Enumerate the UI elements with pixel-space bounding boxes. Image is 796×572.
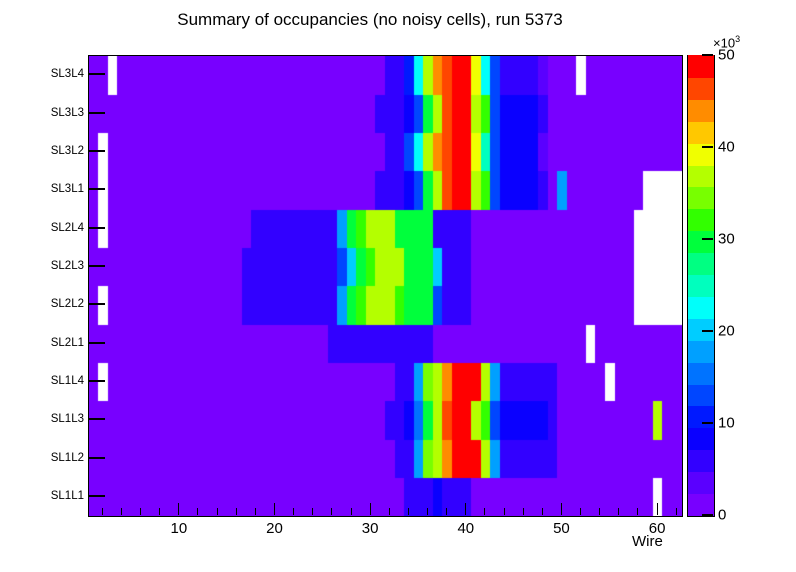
- x-axis-major-tick: [370, 503, 371, 515]
- y-axis-tick: [88, 495, 105, 497]
- x-axis-minor-tick: [580, 508, 581, 515]
- color-scale-bar[interactable]: [687, 55, 715, 517]
- colorbar-tick: [702, 238, 713, 240]
- y-axis-labels: SL1L1SL1L2SL1L3SL1L4SL2L1SL2L2SL2L3SL2L4…: [0, 0, 84, 572]
- x-axis-tick-label: 40: [457, 520, 474, 537]
- x-axis-minor-tick: [504, 508, 505, 515]
- y-axis-tick-label: SL1L1: [51, 490, 84, 502]
- colorbar-band: [688, 472, 714, 495]
- y-axis-tick: [88, 150, 105, 152]
- colorbar-tick: [702, 514, 713, 516]
- y-axis-tick: [88, 418, 105, 420]
- page-title: Summary of occupancies (no noisy cells),…: [0, 10, 740, 30]
- colorbar-band: [688, 99, 714, 122]
- colorbar-band: [688, 274, 714, 297]
- y-axis-tick-label: SL3L2: [51, 145, 84, 157]
- x-axis-minor-tick: [159, 508, 160, 515]
- colorbar-band: [688, 428, 714, 451]
- colorbar-tick-label: 40: [718, 139, 735, 156]
- y-axis-tick: [88, 188, 105, 190]
- y-axis-tick-label: SL2L4: [51, 222, 84, 234]
- colorbar-tick: [702, 54, 713, 56]
- colorbar-band: [688, 296, 714, 319]
- x-axis-minor-tick: [542, 508, 543, 515]
- x-axis-minor-tick: [427, 508, 428, 515]
- y-axis-tick-label: SL3L3: [51, 107, 84, 119]
- colorbar-band: [688, 209, 714, 232]
- x-axis-minor-tick: [217, 508, 218, 515]
- y-axis-tick: [88, 457, 105, 459]
- colorbar-band: [688, 165, 714, 188]
- colorbar-band: [688, 187, 714, 210]
- x-axis-major-tick: [561, 503, 562, 515]
- y-axis-tick: [88, 342, 105, 344]
- x-axis-tick-label: 10: [171, 520, 188, 537]
- y-axis-tick-label: SL2L3: [51, 260, 84, 272]
- x-axis-major-tick: [657, 503, 658, 515]
- colorbar-tick-label: 0: [718, 507, 726, 524]
- y-axis-tick-label: SL3L1: [51, 183, 84, 195]
- x-axis-minor-tick: [331, 508, 332, 515]
- x-axis-minor-tick: [197, 508, 198, 515]
- x-axis-minor-tick: [351, 508, 352, 515]
- x-axis-minor-tick: [293, 508, 294, 515]
- x-axis-minor-tick: [102, 508, 103, 515]
- colorbar-band: [688, 340, 714, 363]
- colorbar-band: [688, 55, 714, 78]
- colorbar-tick: [702, 330, 713, 332]
- y-axis-tick: [88, 380, 105, 382]
- x-axis-minor-tick: [618, 508, 619, 515]
- x-axis-minor-tick: [599, 508, 600, 515]
- colorbar-band: [688, 77, 714, 100]
- x-axis-minor-tick: [389, 508, 390, 515]
- y-axis-tick: [88, 73, 105, 75]
- x-axis-minor-tick: [637, 508, 638, 515]
- x-axis-minor-tick: [236, 508, 237, 515]
- x-axis-minor-tick: [523, 508, 524, 515]
- x-axis-minor-tick: [140, 508, 141, 515]
- heatmap-canvas[interactable]: [89, 56, 682, 516]
- heatmap-plot-area[interactable]: [88, 55, 683, 517]
- y-axis-tick-label: SL1L4: [51, 375, 84, 387]
- x-axis-minor-tick: [676, 508, 677, 515]
- y-axis-tick-label: SL1L3: [51, 413, 84, 425]
- x-axis-tick-label: 30: [362, 520, 379, 537]
- y-axis-tick-label: SL3L4: [51, 68, 84, 80]
- colorbar-band: [688, 450, 714, 473]
- x-axis-minor-tick: [484, 508, 485, 515]
- y-axis-tick: [88, 112, 105, 114]
- x-axis-minor-tick: [121, 508, 122, 515]
- x-axis-tick-label: 20: [266, 520, 283, 537]
- x-axis-major-tick: [274, 503, 275, 515]
- colorbar-band: [688, 253, 714, 276]
- colorbar-band: [688, 121, 714, 144]
- colorbar-band: [688, 384, 714, 407]
- colorbar-tick: [702, 422, 713, 424]
- colorbar-exponent-label: ×103: [713, 34, 740, 50]
- x-axis-title: Wire: [632, 533, 663, 550]
- colorbar-band: [688, 406, 714, 429]
- y-axis-tick-label: SL2L2: [51, 298, 84, 310]
- colorbar-band: [688, 494, 714, 517]
- x-axis-minor-tick: [312, 508, 313, 515]
- x-axis-minor-tick: [255, 508, 256, 515]
- x-axis-major-tick: [465, 503, 466, 515]
- y-axis-tick: [88, 303, 105, 305]
- x-axis-minor-tick: [408, 508, 409, 515]
- y-axis-tick: [88, 265, 105, 267]
- y-axis-tick-label: SL2L1: [51, 337, 84, 349]
- colorbar-tick-label: 10: [718, 415, 735, 432]
- chart-root: Summary of occupancies (no noisy cells),…: [0, 0, 796, 572]
- colorbar-exponent-power: 3: [735, 34, 740, 44]
- colorbar-band: [688, 362, 714, 385]
- colorbar-tick: [702, 146, 713, 148]
- colorbar-band: [688, 231, 714, 254]
- colorbar-exponent-base: ×10: [713, 35, 735, 50]
- x-axis-minor-tick: [446, 508, 447, 515]
- y-axis-tick: [88, 227, 105, 229]
- y-axis-tick-label: SL1L2: [51, 452, 84, 464]
- colorbar-tick-label: 30: [718, 231, 735, 248]
- colorbar-tick-label: 20: [718, 323, 735, 340]
- x-axis-tick-label: 50: [553, 520, 570, 537]
- x-axis-major-tick: [178, 503, 179, 515]
